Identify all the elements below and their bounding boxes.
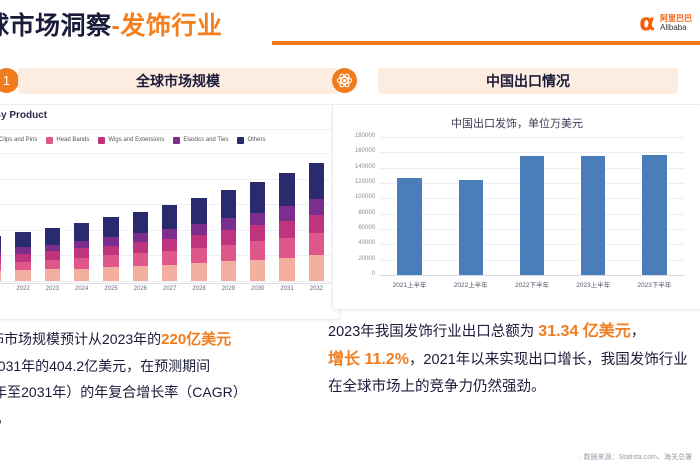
- bar-segment: [250, 260, 265, 281]
- bar-segment: [74, 258, 89, 269]
- brand-logo: α 阿里巴巴 Alibaba: [639, 8, 692, 38]
- bar-segment: [74, 241, 89, 248]
- bar-segment: [279, 238, 294, 258]
- x-tick-label: 2032: [302, 286, 331, 292]
- bar-stack: [250, 182, 265, 281]
- left-panel-title-label: 全球市场规模: [136, 71, 220, 91]
- x-tick-label: 2030: [243, 286, 272, 292]
- bar-segment: [103, 267, 118, 281]
- source-note: · 数据来源：Statista.com、海关总署: [579, 452, 692, 462]
- bar-segment: [74, 269, 89, 281]
- bar-segment: [221, 245, 236, 262]
- x-tick-label: 2028: [184, 286, 213, 292]
- bar-segment: [250, 225, 265, 241]
- alibaba-mark-icon: α: [639, 12, 655, 35]
- gridline: [379, 137, 685, 138]
- bar-segment: [15, 232, 30, 247]
- bar-segment: [191, 263, 206, 281]
- bar-stack: [191, 198, 206, 281]
- y-tick-label: 180000: [355, 133, 375, 139]
- brand-text: 阿里巴巴 Alibaba: [660, 14, 692, 32]
- bar-segment: [15, 270, 30, 281]
- china-export-chart: 中国出口发饰，单位万美元 180000160000140000120000100…: [332, 104, 700, 310]
- bar-segment: [279, 173, 294, 207]
- left-chart-title: Size By Product: [0, 110, 47, 121]
- bar-stack: [162, 205, 177, 281]
- bar-segment: [250, 182, 265, 213]
- y-tick-label: 80000: [358, 210, 375, 216]
- right-para-1: 2023年我国发饰行业出口总额为: [328, 324, 538, 340]
- x-tick-label: 2022: [8, 286, 37, 292]
- bar-segment: [221, 190, 236, 218]
- bar-segment: [221, 261, 236, 281]
- title-underline: [272, 41, 700, 45]
- bar-stack: [133, 212, 148, 281]
- y-tick-label: 60000: [358, 225, 375, 231]
- x-tick-label: 2026: [126, 286, 155, 292]
- bar-segment: [162, 239, 177, 251]
- bar-stack: [309, 163, 324, 281]
- legend-item: Elastics and Ties: [173, 137, 228, 144]
- bar-segment: [221, 218, 236, 230]
- bar-segment: [103, 255, 118, 267]
- bar-segment: [250, 241, 265, 260]
- x-tick-label: 2024: [67, 286, 96, 292]
- bar-segment: [45, 251, 60, 259]
- bar-segment: [74, 223, 89, 241]
- x-tick-label: 2029: [214, 286, 243, 292]
- bar-segment: [191, 198, 206, 224]
- right-para-2: ，: [631, 324, 646, 340]
- bar-segment: [0, 263, 1, 271]
- x-tick-label: 2025: [96, 286, 125, 292]
- left-section-bullet-label: 1: [3, 73, 10, 88]
- bar: [520, 156, 544, 275]
- right-panel-title-label: 中国出口情况: [486, 71, 570, 91]
- bar-segment: [45, 269, 60, 281]
- legend-item: Clips and Pins: [0, 137, 37, 144]
- bar-segment: [133, 242, 148, 253]
- y-tick-label: 160000: [355, 148, 375, 154]
- left-chart-x-axis: 2021202220232024202520262027202820292030…: [0, 283, 331, 298]
- x-tick-label: 2023上半年: [563, 279, 624, 289]
- left-chart-header: Size By Product: [0, 105, 339, 130]
- right-para-highlight-1: 31.34 亿美元: [538, 323, 631, 340]
- bar-segment: [162, 251, 177, 265]
- y-tick-label: 40000: [358, 240, 375, 246]
- bar-segment: [103, 237, 118, 245]
- bar-segment: [162, 205, 177, 229]
- left-section-bullet: 1: [0, 68, 19, 93]
- legend-item: Head Bands: [46, 137, 89, 144]
- left-panel-title: 全球市场规模: [18, 68, 338, 94]
- left-paragraph: 球发饰市场规模预计从2023年的220亿美元 长至2031年的404.2亿美元，…: [0, 326, 312, 432]
- x-tick-label: 2021: [0, 286, 8, 292]
- bar-segment: [191, 224, 206, 235]
- y-tick-label: 140000: [355, 164, 375, 170]
- legend-label: Head Bands: [56, 137, 89, 143]
- right-para-highlight-2: 增长 11.2%: [328, 351, 409, 368]
- gridline: [0, 281, 331, 282]
- y-tick-label: 0: [372, 271, 375, 277]
- bar: [459, 180, 483, 275]
- bar-stack: [74, 223, 89, 281]
- bar-stack: [221, 190, 236, 281]
- bar: [397, 178, 421, 275]
- legend-swatch: [173, 137, 180, 144]
- bar-segment: [133, 212, 148, 234]
- page-title-main: 球市场洞察: [0, 12, 112, 40]
- left-chart-plot-area: [0, 153, 331, 281]
- bar-segment: [162, 229, 177, 239]
- legend-item: Others: [237, 137, 265, 144]
- bar-segment: [279, 258, 294, 281]
- bar-segment: [221, 230, 236, 244]
- bar-segment: [45, 245, 60, 252]
- bar-segment: [0, 236, 1, 250]
- legend-swatch: [98, 137, 105, 144]
- legend-item: Wigs and Extensions: [98, 137, 164, 144]
- right-chart-x-axis: 2021上半年2022上半年2022下半年2023上半年2023下半年: [379, 275, 685, 290]
- x-tick-label: 2023下半年: [624, 279, 685, 289]
- y-tick-label: 120000: [355, 179, 375, 185]
- legend-swatch: [46, 137, 53, 144]
- brand-line-1: 阿里巴巴: [660, 14, 692, 23]
- bar-segment: [309, 233, 324, 255]
- bar-segment: [309, 255, 324, 281]
- bar-stack: [279, 173, 294, 281]
- bar-segment: [309, 215, 324, 234]
- bar-segment: [0, 271, 1, 281]
- legend-label: Others: [247, 137, 265, 143]
- bar-segment: [133, 233, 148, 242]
- x-tick-label: 2021上半年: [379, 279, 440, 289]
- bar-segment: [279, 221, 294, 238]
- bar-stack: [15, 232, 30, 281]
- left-para-3: 2024年至2031年）的年复合增长率（CAGR）: [0, 384, 247, 400]
- gridline: [379, 152, 685, 153]
- brand-line-2: Alibaba: [660, 23, 687, 32]
- bar: [581, 156, 605, 275]
- bar-segment: [279, 206, 294, 220]
- x-tick-label: 2022下半年: [501, 279, 562, 289]
- bar-segment: [0, 256, 1, 263]
- bar-segment: [15, 254, 30, 262]
- bar-segment: [45, 228, 60, 245]
- bar-stack: [103, 217, 118, 281]
- y-tick-label: 20000: [358, 256, 375, 262]
- bar-segment: [103, 217, 118, 237]
- left-para-highlight-1: 220亿美元: [161, 331, 231, 348]
- atom-icon: [332, 68, 357, 93]
- bar-segment: [191, 235, 206, 248]
- x-tick-label: 2031: [272, 286, 301, 292]
- legend-swatch: [237, 137, 244, 144]
- left-chart-legend: Clips and PinsHead BandsWigs and Extensi…: [0, 133, 333, 147]
- bar-segment: [191, 248, 206, 263]
- legend-label: Clips and Pins: [0, 137, 37, 143]
- right-chart-title: 中国出口发饰，单位万美元: [333, 115, 700, 131]
- bar-segment: [45, 260, 60, 270]
- bar-segment: [309, 163, 324, 200]
- bar-stack: [0, 236, 1, 281]
- global-market-size-chart: Size By Product Clips and PinsHead Bands…: [0, 104, 340, 320]
- bar-segment: [133, 266, 148, 281]
- left-para-1: 球发饰市场规模预计从2023年的: [0, 331, 161, 347]
- page-title: 球市场洞察-发饰行业: [0, 6, 222, 42]
- x-tick-label: 2022上半年: [440, 279, 501, 289]
- bar-segment: [74, 248, 89, 257]
- right-chart-plot-area: 1800001600001400001200001000008000060000…: [379, 137, 685, 275]
- bar-stack: [45, 228, 60, 281]
- bar-segment: [250, 213, 265, 226]
- y-tick-label: 100000: [355, 194, 375, 200]
- right-paragraph: 2023年我国发饰行业出口总额为 31.34 亿美元， 增长 11.2%，202…: [328, 318, 696, 401]
- right-panel-title: 中国出口情况: [378, 68, 678, 94]
- x-tick-label: 2023: [38, 286, 67, 292]
- page-title-accent: -发饰行业: [112, 12, 223, 40]
- left-para-2: 长至2031年的404.2亿美元，在预测期间: [0, 358, 210, 374]
- bar-segment: [162, 265, 177, 281]
- left-para-4: 。: [0, 410, 10, 426]
- bar-segment: [133, 253, 148, 266]
- bar-segment: [103, 246, 118, 256]
- legend-label: Wigs and Extensions: [108, 137, 164, 143]
- x-tick-label: 2027: [155, 286, 184, 292]
- page-header: 球市场洞察-发饰行业 α 阿里巴巴 Alibaba: [0, 0, 700, 52]
- bar: [642, 155, 666, 275]
- bar-segment: [309, 199, 324, 214]
- gridline: [0, 153, 331, 154]
- bar-segment: [15, 262, 30, 271]
- legend-label: Elastics and Ties: [183, 137, 228, 143]
